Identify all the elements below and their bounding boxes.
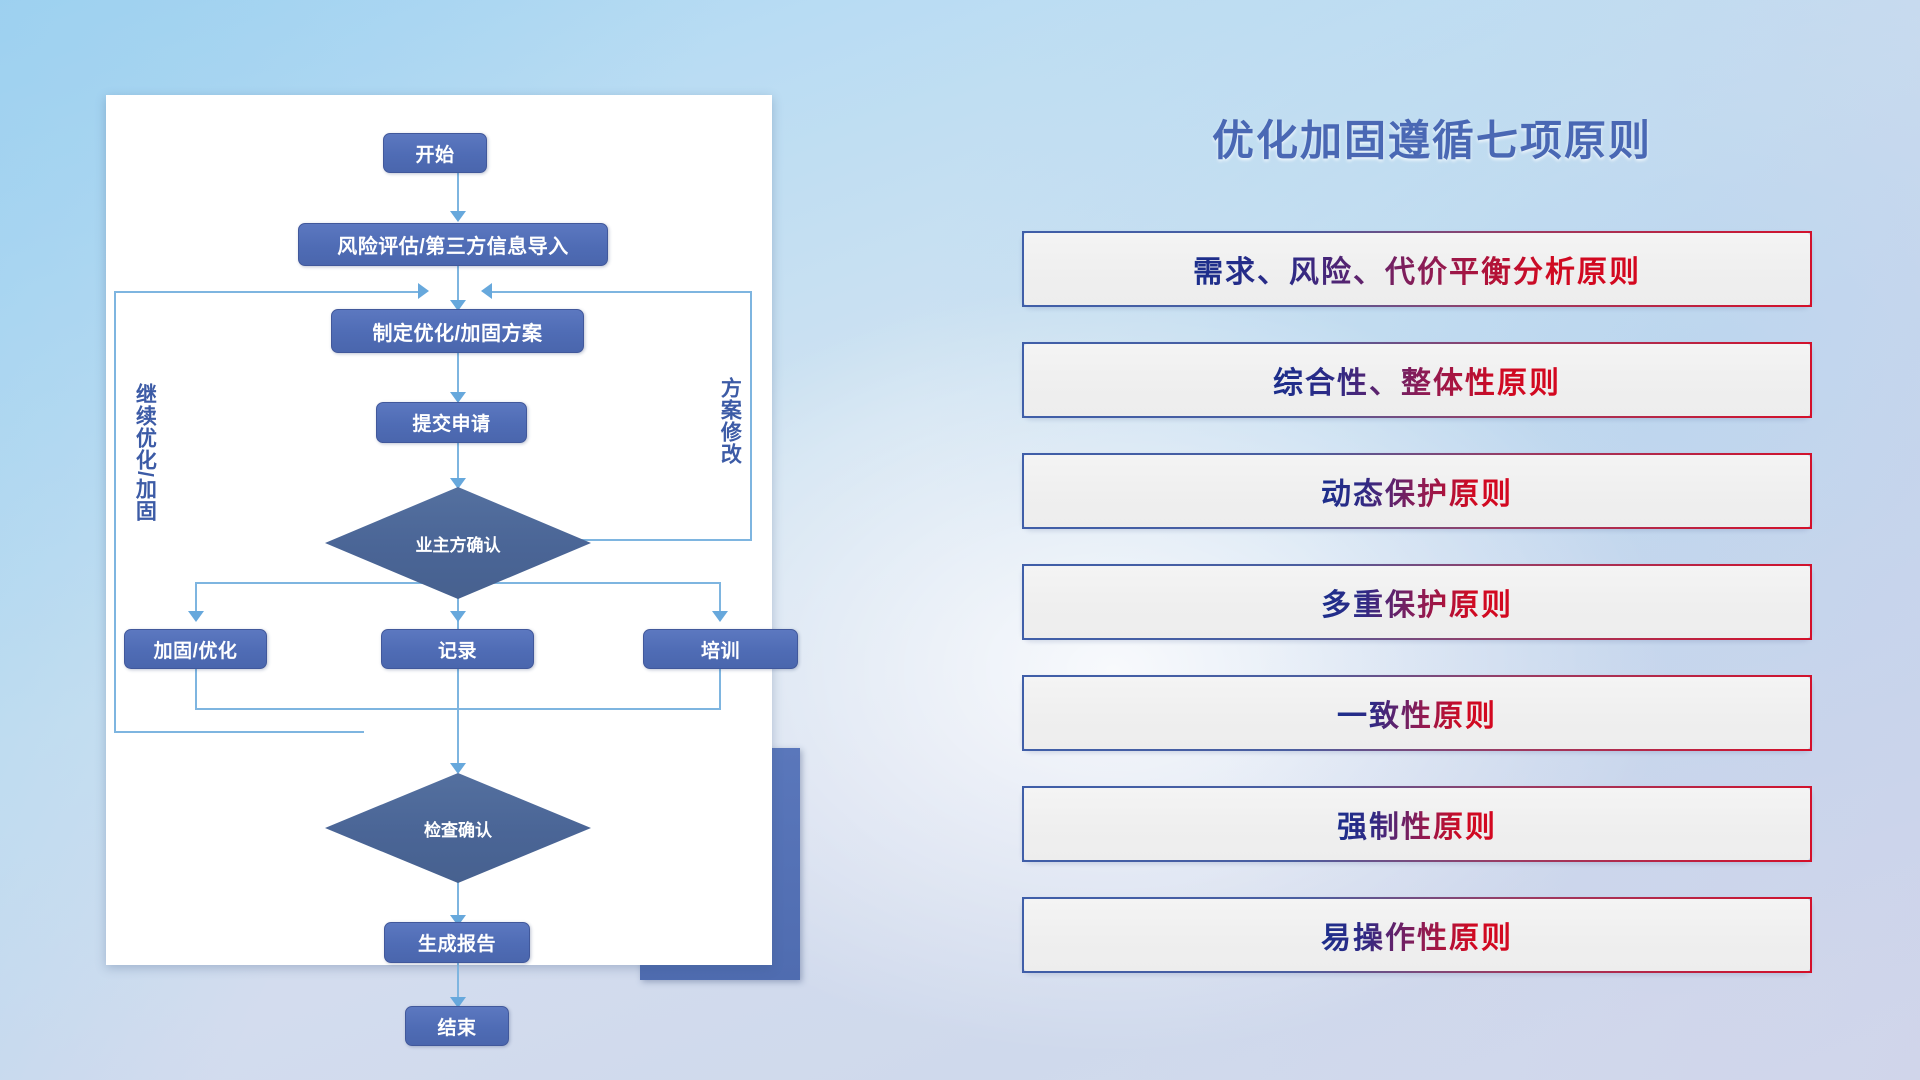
flow-node-record-label: 记录 — [438, 636, 477, 663]
flow-node-end[interactable]: 结束 — [405, 1006, 509, 1046]
connector-left-loop-v — [114, 291, 116, 733]
flow-node-start[interactable]: 开始 — [383, 133, 487, 173]
flow-node-make-plan[interactable]: 制定优化/加固方案 — [331, 309, 584, 353]
flow-decision-owner-confirm[interactable]: 业主方确认 — [325, 487, 591, 599]
arrowhead-plan-left — [418, 283, 429, 299]
arrowhead-risk — [450, 211, 466, 222]
principle-label: 一致性原则 — [1337, 691, 1497, 735]
arrowhead-record — [450, 611, 466, 622]
principle-item-7[interactable]: 易操作性原则 — [1022, 897, 1812, 973]
principle-label: 易操作性原则 — [1321, 913, 1513, 957]
flow-node-training-label: 培训 — [701, 636, 740, 663]
principle-label: 强制性原则 — [1337, 802, 1497, 846]
arrowhead-plan-right — [481, 283, 492, 299]
connector-right-loop-in — [490, 291, 752, 293]
arrowhead-training — [712, 611, 728, 622]
flow-node-reinforce-optimize[interactable]: 加固/优化 — [124, 629, 267, 669]
connector-left-loop-h — [114, 731, 364, 733]
connector-start-risk — [457, 167, 459, 217]
connector-record-down — [457, 667, 459, 769]
flow-node-end-label: 结束 — [437, 1013, 476, 1040]
page-title: 优化加固遵循七项原则 — [1152, 107, 1712, 168]
flow-node-risk-assessment-label: 风险评估/第三方信息导入 — [337, 230, 569, 259]
principle-item-4[interactable]: 多重保护原则 — [1022, 564, 1812, 640]
principle-item-5[interactable]: 一致性原则 — [1022, 675, 1812, 751]
flow-decision-owner-confirm-label: 业主方确认 — [416, 531, 501, 556]
principle-item-1[interactable]: 需求、风险、代价平衡分析原则 — [1022, 231, 1812, 307]
flow-node-make-plan-label: 制定优化/加固方案 — [372, 317, 542, 346]
flow-node-reinforce-optimize-label: 加固/优化 — [154, 636, 238, 663]
principle-label: 需求、风险、代价平衡分析原则 — [1193, 247, 1641, 291]
connector-left-loop-in — [114, 291, 424, 293]
flow-node-risk-assessment[interactable]: 风险评估/第三方信息导入 — [298, 223, 608, 266]
edge-label-plan-revision: 方案修改 — [719, 377, 740, 465]
principle-item-2[interactable]: 综合性、整体性原则 — [1022, 342, 1812, 418]
principle-label: 动态保护原则 — [1321, 469, 1513, 513]
flow-node-submit-application-label: 提交申请 — [412, 409, 490, 436]
flow-decision-check-confirm[interactable]: 检查确认 — [325, 773, 591, 883]
flow-node-training[interactable]: 培训 — [643, 629, 798, 669]
flow-node-submit-application[interactable]: 提交申请 — [376, 402, 527, 443]
flow-node-record[interactable]: 记录 — [381, 629, 534, 669]
flow-node-generate-report-label: 生成报告 — [418, 929, 496, 956]
flow-node-start-label: 开始 — [415, 140, 454, 167]
principle-label: 综合性、整体性原则 — [1273, 358, 1561, 402]
connector-reinforce-down — [195, 667, 197, 710]
principle-item-6[interactable]: 强制性原则 — [1022, 786, 1812, 862]
connector-training-down — [719, 667, 721, 710]
edge-label-continue-optimize: 继续优化/加固 — [134, 383, 155, 522]
connector-right-loop-v — [750, 291, 752, 541]
principle-item-3[interactable]: 动态保护原则 — [1022, 453, 1812, 529]
arrowhead-reinforce — [188, 611, 204, 622]
principle-label: 多重保护原则 — [1321, 580, 1513, 624]
flow-node-generate-report[interactable]: 生成报告 — [384, 922, 530, 963]
flow-decision-check-confirm-label: 检查确认 — [424, 816, 492, 841]
connector-plan-submit — [457, 348, 459, 398]
principles-list: 需求、风险、代价平衡分析原则 综合性、整体性原则 动态保护原则 多重保护原则 一… — [1022, 231, 1812, 1008]
flowchart-card: 开始 风险评估/第三方信息导入 制定优化/加固方案 提交申请 业主方确认 加固/… — [106, 95, 772, 965]
